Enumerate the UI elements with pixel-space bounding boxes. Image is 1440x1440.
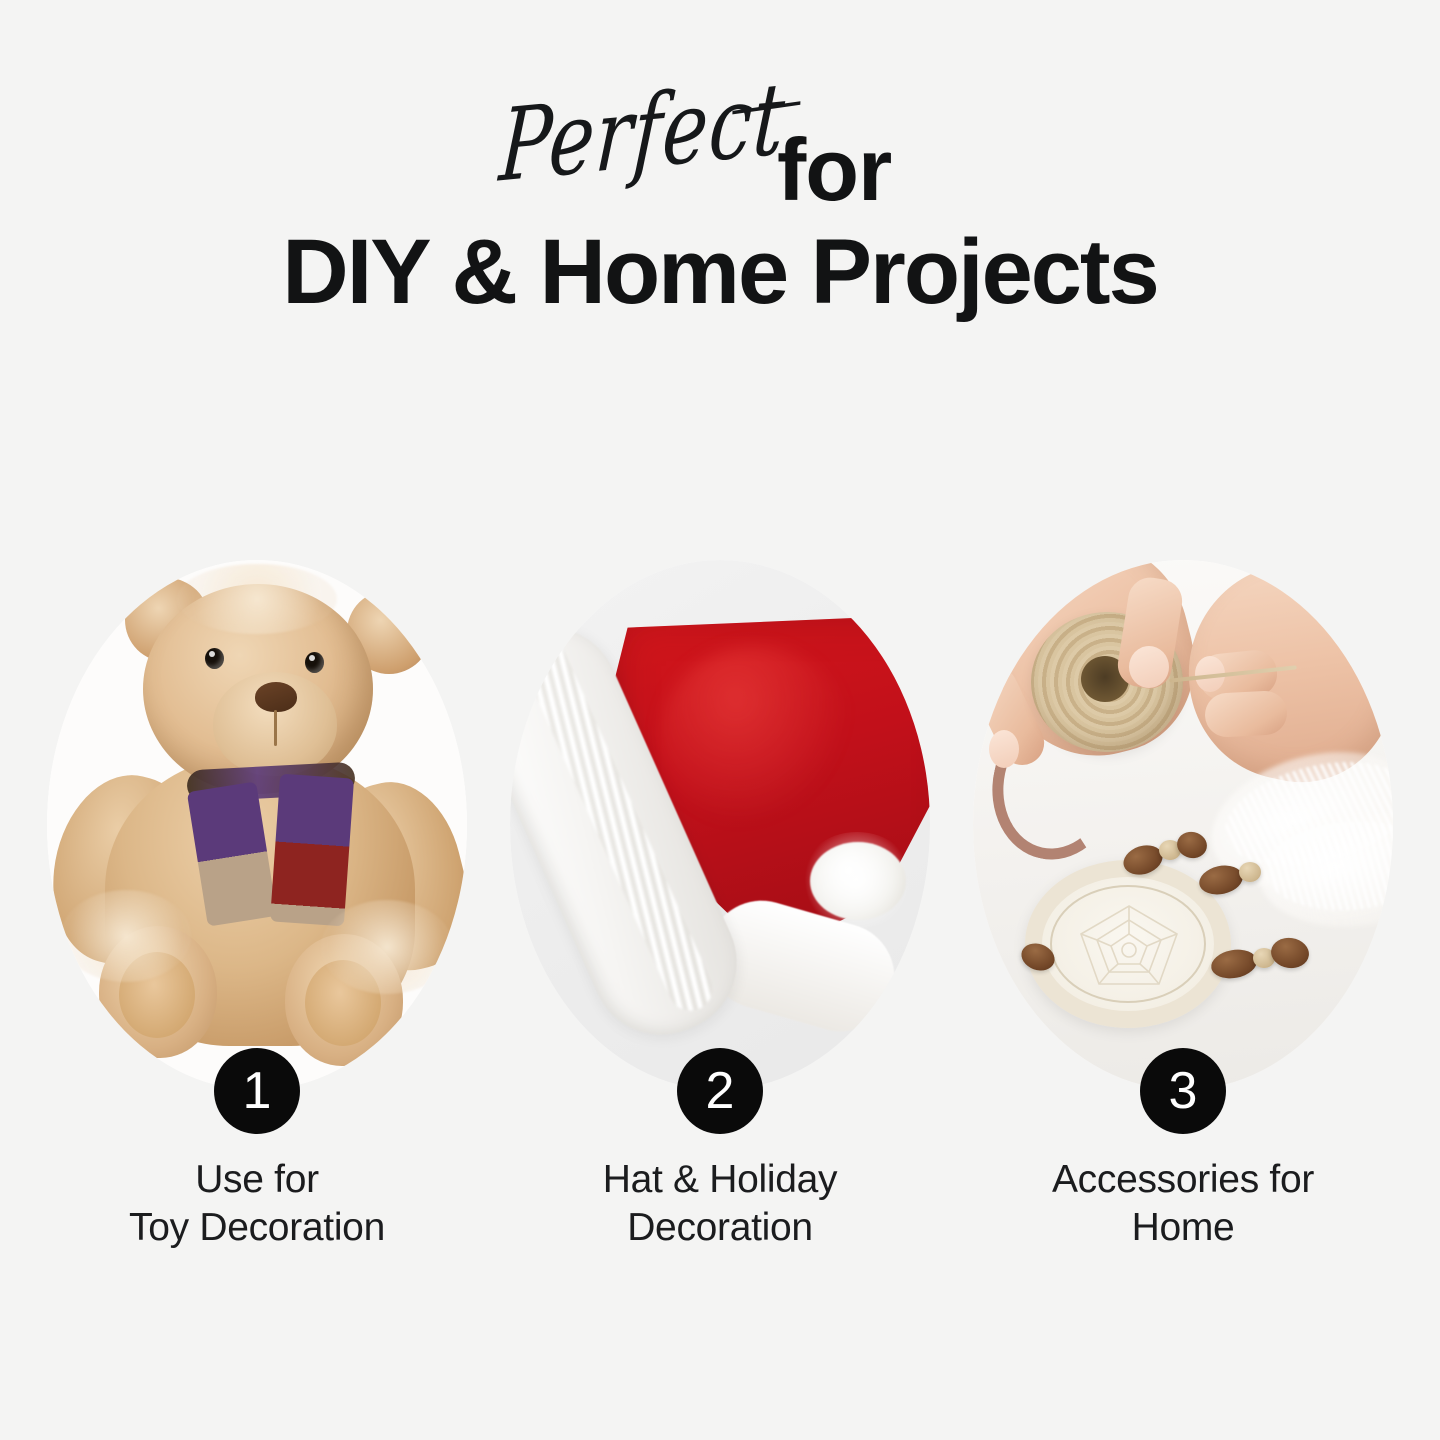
fingernail [1129,646,1169,688]
step-badge-2: 2 [677,1048,763,1134]
step-badge-number: 3 [1169,1065,1198,1117]
bear-scarf-tail-right [270,774,354,927]
dreamcatcher-scene [973,560,1393,1090]
bear-fur-tuft [321,900,453,994]
teddy-bear-scene [47,560,467,1090]
bear-fur-tuft [61,890,191,982]
step-badge-3: 3 [1140,1048,1226,1134]
wooden-bead [1269,936,1311,971]
santa-hat-highlight [660,646,850,826]
dreamcatcher-web [1069,900,1189,992]
bear-eye-left [205,648,224,669]
headline-block: Perfect for DIY & Home Projects [0,104,1440,222]
step-badge-number: 1 [243,1065,272,1117]
card-caption-3: Accessories for Home [1052,1156,1314,1251]
feature-card-hat-holiday-decoration[interactable]: 2 Hat & Holiday Decoration [489,560,952,1251]
card-image-dreamcatcher-craft [973,560,1393,1090]
card-caption-2: Hat & Holiday Decoration [603,1156,838,1251]
santa-hat-scene [510,560,930,1090]
oval-image-wrap-3: 3 [973,560,1393,1090]
feature-card-accessories-for-home[interactable]: 3 Accessories for Home [952,560,1415,1251]
feature-cards-row: 1 Use for Toy Decoration 2 Ha [0,560,1440,1260]
step-badge-number: 2 [706,1065,735,1117]
finger [1204,690,1288,738]
oval-image-wrap-2: 2 [510,560,930,1090]
wooden-bead [1175,829,1210,861]
bear-fur-tuft [177,564,337,634]
card-image-teddy-bear [47,560,467,1090]
card-image-santa-hat [510,560,930,1090]
headline-row-top: Perfect for [0,104,1440,222]
bear-eye-right [305,652,324,673]
bear-nose [255,682,297,712]
bear-mouth [274,710,277,746]
step-badge-1: 1 [214,1048,300,1134]
headline-script-word: Perfect [497,68,788,196]
card-caption-1: Use for Toy Decoration [129,1156,385,1251]
oval-image-wrap-1: 1 [47,560,467,1090]
fingernail [989,730,1019,768]
feature-card-toy-decoration[interactable]: 1 Use for Toy Decoration [26,560,489,1251]
page-title: DIY & Home Projects [0,226,1440,318]
headline-for-word: for [777,126,891,214]
wooden-bead [1239,862,1261,882]
